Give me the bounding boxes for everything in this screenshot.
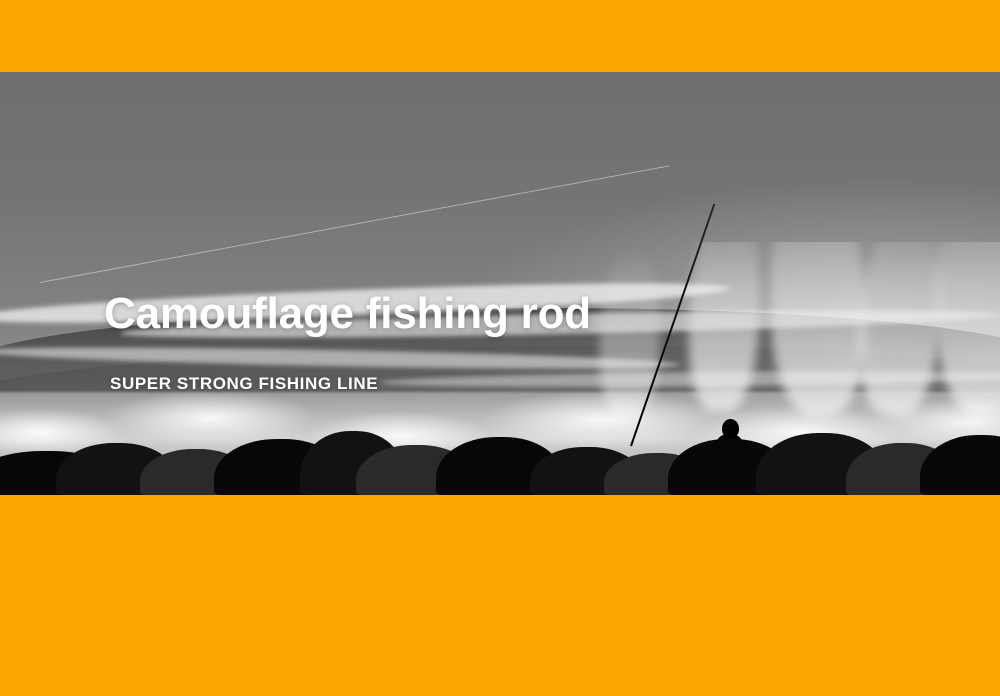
shore-rock bbox=[920, 435, 1000, 495]
hero-photo: Camouflage fishing rod SUPER STRONG FISH… bbox=[0, 72, 1000, 495]
hero-subtitle: SUPER STRONG FISHING LINE bbox=[110, 375, 378, 392]
top-orange-band bbox=[0, 0, 1000, 72]
rocky-shoreline bbox=[0, 417, 1000, 495]
hero-title: Camouflage fishing rod bbox=[104, 292, 591, 336]
product-banner: Camouflage fishing rod SUPER STRONG FISH… bbox=[0, 0, 1000, 696]
bottom-orange-panel: Multicolor rod Smooth and comfortable LI… bbox=[0, 495, 1000, 696]
